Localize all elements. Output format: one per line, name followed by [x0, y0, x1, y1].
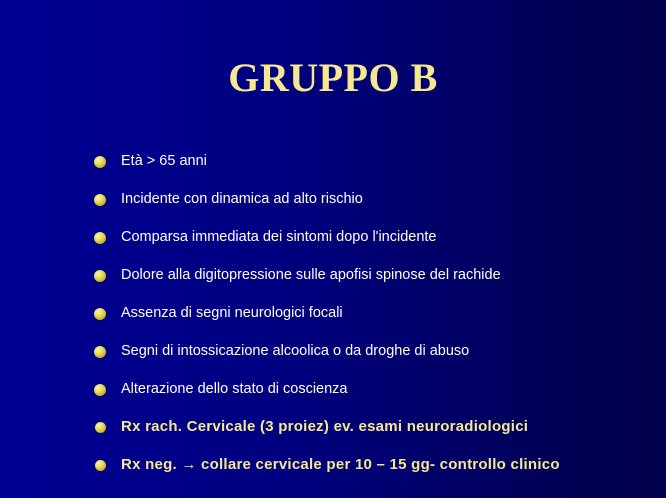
list-item-label: Comparsa immediata dei sintomi dopo l'in…	[121, 224, 436, 250]
list-item-label: Assenza di segni neurologici focali	[121, 300, 343, 326]
bullet-point-icon	[94, 270, 106, 282]
list-item-label: Alterazione dello stato di coscienza	[121, 376, 348, 402]
bullet-point-icon	[94, 156, 106, 168]
list-item: Alterazione dello stato di coscienza	[0, 376, 666, 414]
list-item: Età > 65 anni	[0, 148, 666, 186]
list-item-label: Segni di intossicazione alcoolica o da d…	[121, 338, 469, 364]
list-item-label: Incidente con dinamica ad alto rischio	[121, 186, 363, 212]
list-item: Rx neg. → collare cervicale per 10 – 15 …	[0, 452, 666, 490]
bullet-list: Età > 65 anni Incidente con dinamica ad …	[0, 148, 666, 490]
presentation-slide: GRUPPO B Età > 65 anni Incidente con din…	[0, 0, 666, 498]
list-item-label: Rx neg. → collare cervicale per 10 – 15 …	[121, 452, 560, 478]
bullet-point-icon	[95, 460, 106, 471]
list-item: Assenza di segni neurologici focali	[0, 300, 666, 338]
bullet-point-icon	[94, 232, 106, 244]
list-item: Segni di intossicazione alcoolica o da d…	[0, 338, 666, 376]
list-item: Incidente con dinamica ad alto rischio	[0, 186, 666, 224]
list-item: Comparsa immediata dei sintomi dopo l'in…	[0, 224, 666, 262]
bullet-point-icon	[94, 346, 106, 358]
list-item: Rx rach. Cervicale (3 proiez) ev. esami …	[0, 414, 666, 452]
list-item: Dolore alla digitopressione sulle apofis…	[0, 262, 666, 300]
list-item-label: Rx rach. Cervicale (3 proiez) ev. esami …	[121, 414, 528, 440]
bullet-point-icon	[94, 384, 106, 396]
list-item-label: Dolore alla digitopressione sulle apofis…	[121, 262, 501, 288]
bullet-point-icon	[94, 308, 106, 320]
bullet-point-icon	[95, 422, 106, 433]
list-item-label: Età > 65 anni	[121, 148, 207, 174]
page-title: GRUPPO B	[0, 54, 666, 101]
bullet-point-icon	[94, 194, 106, 206]
